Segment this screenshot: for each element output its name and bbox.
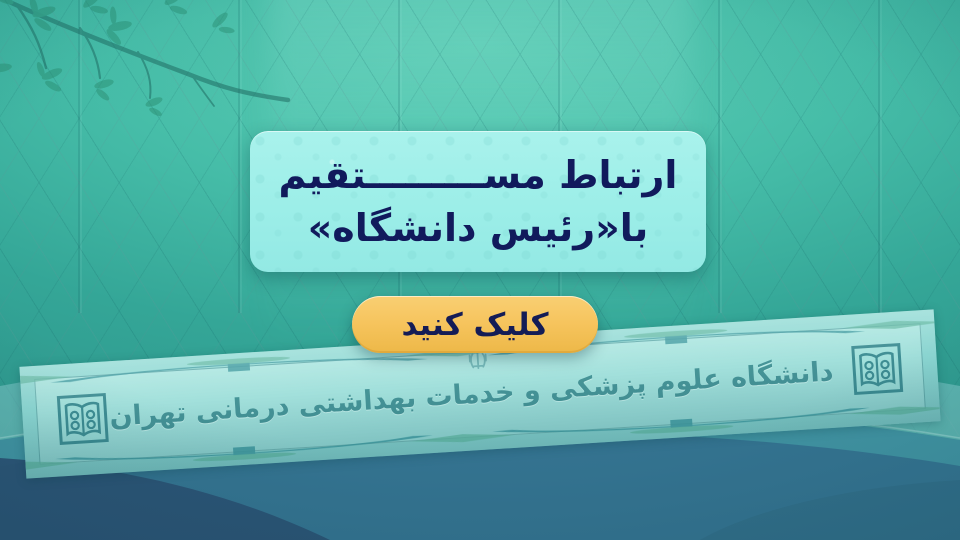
page-title-line-1: ارتباط مســـــــــتقیم [279,153,678,198]
click-here-button[interactable]: کلیک کنید [352,296,598,353]
title-card: ارتباط مســـــــــتقیم با«رئیس دانشگاه» [250,131,706,272]
page-title-line-2: با«رئیس دانشگاه» [308,206,649,251]
slide-canvas: دانشگاه علوم پزشکی و خدمات بهداشتی درمان… [0,0,960,540]
